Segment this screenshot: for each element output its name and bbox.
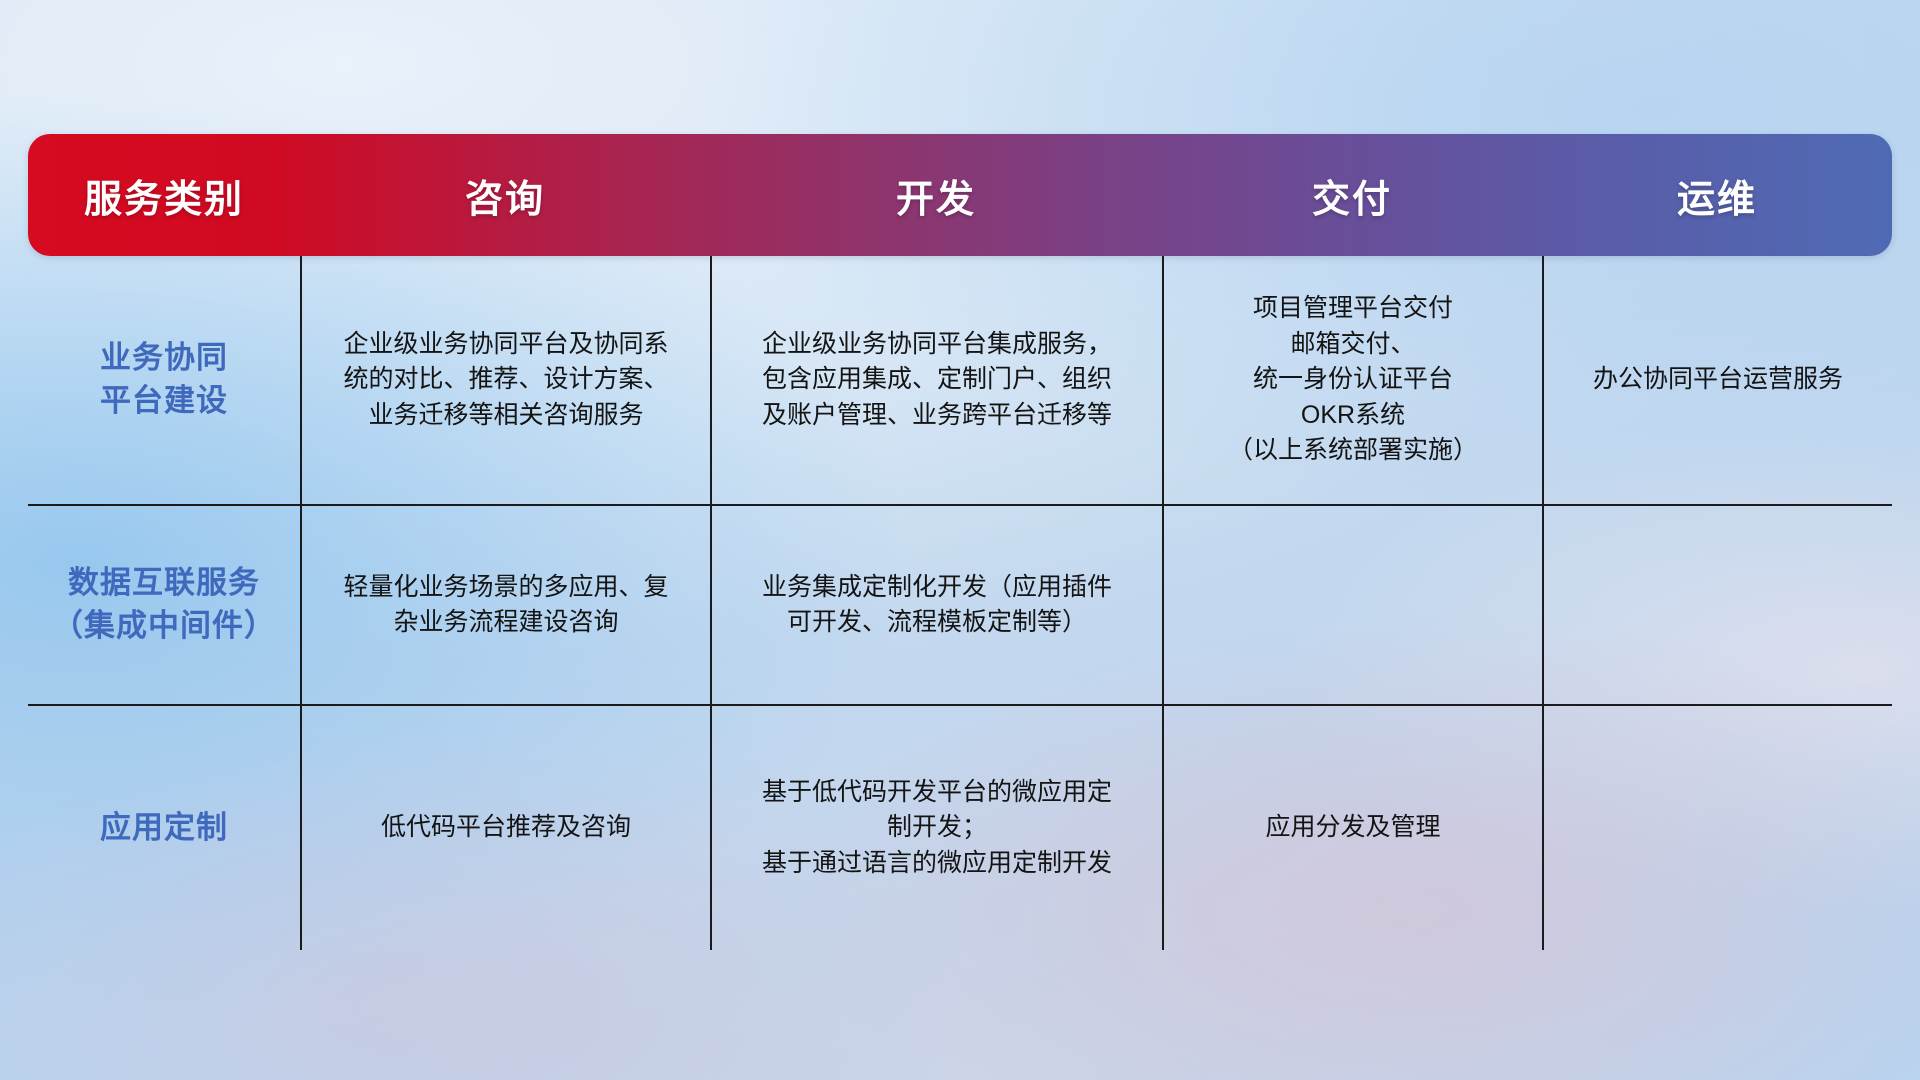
table-row: 业务协同 平台建设 企业级业务协同平台及协同系 统的对比、推荐、设计方案、 业务… — [28, 256, 1892, 504]
cell-consulting-3: 低代码平台推荐及咨询 — [300, 706, 710, 950]
cell-delivery-3: 应用分发及管理 — [1162, 706, 1542, 950]
table-row: 应用定制 低代码平台推荐及咨询 基于低代码开发平台的微应用定 制开发； 基于通过… — [28, 704, 1892, 950]
cell-development-1: 企业级业务协同平台集成服务， 包含应用集成、定制门户、组织 及账户管理、业务跨平… — [710, 256, 1162, 504]
cell-delivery-1: 项目管理平台交付 邮箱交付、 统一身份认证平台 OKR系统 （以上系统部署实施） — [1162, 256, 1542, 504]
header-cell-development: 开发 — [710, 134, 1162, 256]
cell-development-2: 业务集成定制化开发（应用插件 可开发、流程模板定制等） — [710, 506, 1162, 704]
table-header-row: 服务类别 咨询 开发 交付 运维 — [28, 134, 1892, 256]
cell-operations-1: 办公协同平台运营服务 — [1542, 256, 1892, 504]
cell-development-3: 基于低代码开发平台的微应用定 制开发； 基于通过语言的微应用定制开发 — [710, 706, 1162, 950]
cell-category-3: 应用定制 — [28, 706, 300, 950]
header-cell-category: 服务类别 — [28, 134, 300, 256]
table-body: 业务协同 平台建设 企业级业务协同平台及协同系 统的对比、推荐、设计方案、 业务… — [28, 256, 1892, 950]
cell-category-2: 数据互联服务 （集成中间件） — [28, 506, 300, 704]
header-cell-consulting: 咨询 — [300, 134, 710, 256]
service-matrix-table: 服务类别 咨询 开发 交付 运维 业务协同 平台建设 企业级业务协同平台及协同系… — [28, 134, 1892, 948]
header-cell-operations: 运维 — [1542, 134, 1892, 256]
cell-delivery-2 — [1162, 506, 1542, 704]
cell-consulting-1: 企业级业务协同平台及协同系 统的对比、推荐、设计方案、 业务迁移等相关咨询服务 — [300, 256, 710, 504]
cell-operations-3 — [1542, 706, 1892, 950]
cell-consulting-2: 轻量化业务场景的多应用、复 杂业务流程建设咨询 — [300, 506, 710, 704]
cell-operations-2 — [1542, 506, 1892, 704]
table-row: 数据互联服务 （集成中间件） 轻量化业务场景的多应用、复 杂业务流程建设咨询 业… — [28, 504, 1892, 704]
cell-category-1: 业务协同 平台建设 — [28, 256, 300, 504]
header-cell-delivery: 交付 — [1162, 134, 1542, 256]
